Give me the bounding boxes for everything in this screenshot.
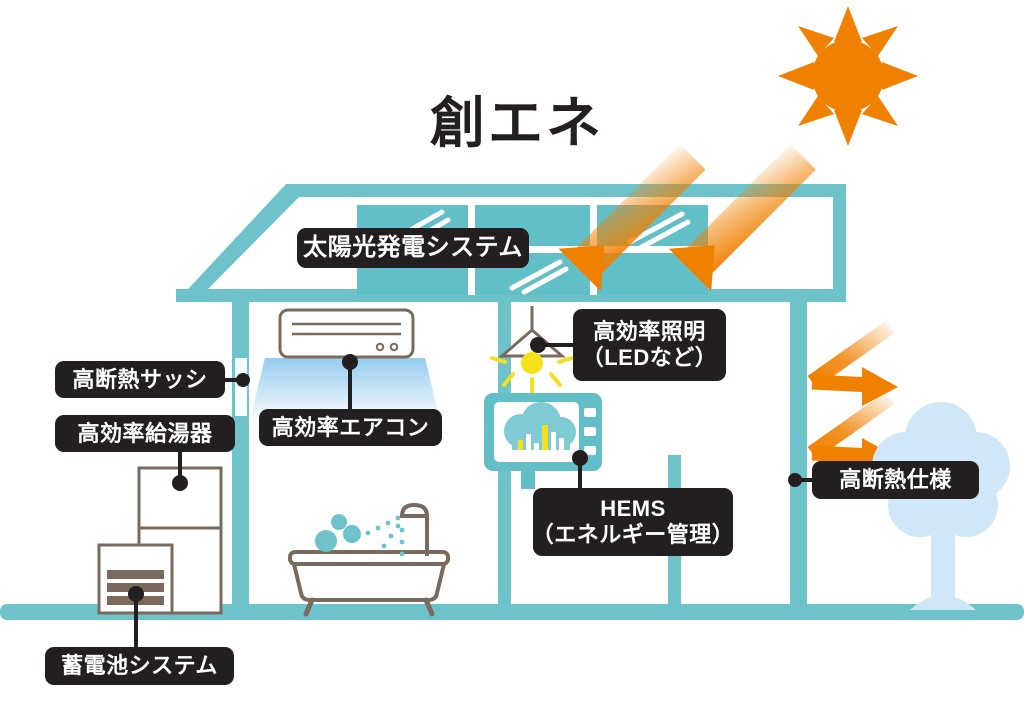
hems-label-line-1: HEMS bbox=[600, 496, 666, 522]
hems-label[interactable]: HEMS （エネルギー管理） bbox=[533, 488, 733, 556]
hems-label-line-2: （エネルギー管理） bbox=[532, 522, 735, 548]
high-efficiency-lighting-label-line-2: （LEDなど） bbox=[582, 345, 718, 371]
high-insulation-sash-label[interactable]: 高断熱サッシ bbox=[55, 361, 225, 398]
high-insulation-spec-label[interactable]: 高断熱仕様 bbox=[812, 461, 979, 499]
page-title: 創エネ bbox=[430, 78, 604, 158]
energy-house-diagram: 創エネ 太陽光発電システム 高断熱サッシ 高効率給湯器 高効率エアコン 高効率照… bbox=[0, 0, 1024, 704]
high-efficiency-aircon-label-line-1: 高効率エアコン bbox=[272, 415, 430, 441]
high-insulation-spec-label-line-1: 高断熱仕様 bbox=[839, 467, 952, 493]
bathtub-icon bbox=[290, 505, 448, 614]
solar-power-system-label[interactable]: 太陽光発電システム bbox=[297, 228, 529, 268]
high-efficiency-aircon-label[interactable]: 高効率エアコン bbox=[259, 409, 442, 446]
storage-battery-system-label-line-1: 蓄電池システム bbox=[61, 653, 218, 679]
window-sash-icon bbox=[235, 358, 247, 416]
high-efficiency-water-heater-label-line-1: 高効率給湯器 bbox=[77, 421, 212, 447]
tree-icon bbox=[872, 402, 1010, 610]
sun-icon bbox=[778, 6, 918, 146]
high-insulation-sash-label-line-1: 高断熱サッシ bbox=[72, 367, 207, 393]
high-efficiency-lighting-label-line-1: 高効率照明 bbox=[593, 319, 706, 345]
high-efficiency-water-heater-label[interactable]: 高効率給湯器 bbox=[55, 415, 235, 452]
storage-battery-system-label[interactable]: 蓄電池システム bbox=[45, 647, 234, 685]
high-efficiency-lighting-label[interactable]: 高効率照明 （LEDなど） bbox=[573, 309, 726, 381]
solar-power-system-label-line-1: 太陽光発電システム bbox=[303, 234, 523, 262]
